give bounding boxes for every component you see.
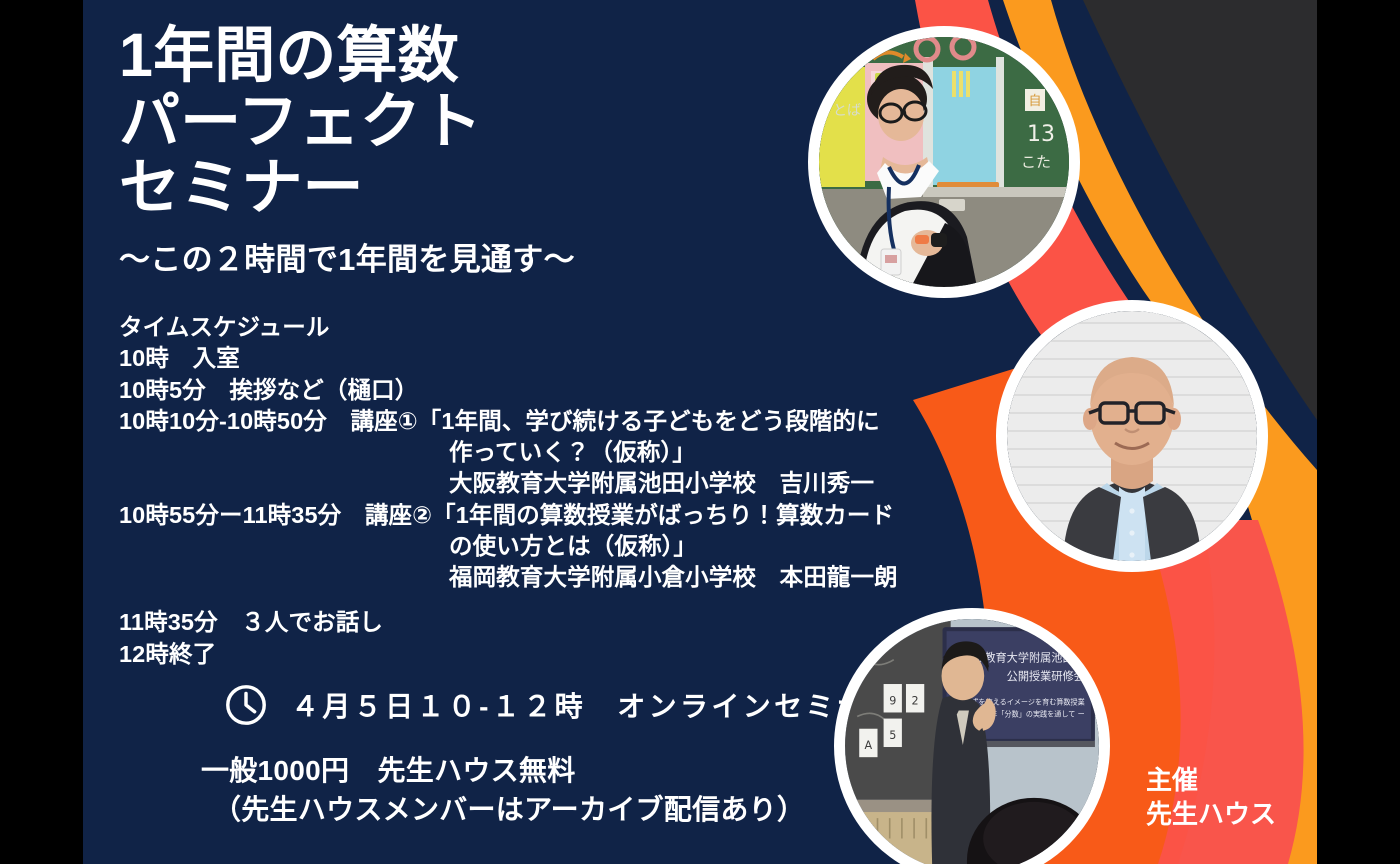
letterbox-left bbox=[0, 0, 83, 864]
schedule-row: 10時10分-10時50分 講座①「1年間、学び続ける子どもをどう段階的に bbox=[119, 406, 949, 437]
schedule-heading: タイムスケジュール bbox=[119, 312, 949, 343]
schedule-row: の使い方とは（仮称）」 bbox=[119, 531, 949, 562]
photo-lecture: 92 5A 大阪教育大学附属池田小 公開授業研修会 式、形式を変えるイメージを育… bbox=[834, 608, 1110, 864]
price-line-1: 一般1000円 先生ハウス無料 bbox=[201, 752, 805, 791]
svg-text:9: 9 bbox=[889, 694, 896, 707]
schedule-row: 10時 入室 bbox=[119, 343, 949, 374]
photo-portrait bbox=[996, 300, 1268, 572]
clock-icon bbox=[223, 682, 269, 728]
schedule-row: 11時35分 ３人でお話し bbox=[119, 607, 949, 638]
event-date-bar: ４月５日１０-１２時 オンラインセミナー bbox=[223, 682, 900, 728]
time-schedule: タイムスケジュール 10時 入室 10時5分 挨拶など（樋口） 10時10分-1… bbox=[119, 312, 949, 670]
event-date-text: ４月５日１０-１２時 オンラインセミナー bbox=[291, 685, 900, 725]
svg-text:自: 自 bbox=[1028, 94, 1041, 109]
headline-line-2: パーフェクト bbox=[119, 92, 759, 152]
svg-text:2: 2 bbox=[912, 694, 919, 707]
price-line-2: （先生ハウスメンバーはアーカイブ配信あり） bbox=[201, 791, 805, 830]
svg-text:公開授業研修会: 公開授業研修会 bbox=[1007, 669, 1085, 683]
headline-line-3: セミナー bbox=[119, 158, 759, 218]
page-subtitle: 〜この２時間で1年間を見通す〜 bbox=[119, 234, 575, 279]
photo-classroom-image: 自 13 こた とば bbox=[819, 37, 1069, 287]
svg-text:A: A bbox=[865, 739, 873, 752]
poster-stage: 1年間の算数 パーフェクト セミナー 〜この２時間で1年間を見通す〜 タイムスケ… bbox=[0, 0, 1400, 864]
headline-line-1: 1年間の算数 bbox=[119, 26, 759, 86]
schedule-row: 12時終了 bbox=[119, 639, 949, 670]
photo-lecture-image: 92 5A 大阪教育大学附属池田小 公開授業研修会 式、形式を変えるイメージを育… bbox=[845, 619, 1099, 864]
schedule-row: 10時55分ー11時35分 講座②「1年間の算数授業がばっちり！算数カード bbox=[119, 500, 949, 531]
organizer-label: 主催 bbox=[1146, 763, 1276, 797]
letterbox-right bbox=[1317, 0, 1400, 864]
schedule-spacer bbox=[119, 593, 949, 607]
photo-classroom: 自 13 こた とば bbox=[808, 26, 1080, 298]
schedule-row-speaker: 福岡教育大学附属小倉小学校 本田龍一朗 bbox=[119, 562, 949, 593]
poster-canvas: 1年間の算数 パーフェクト セミナー 〜この２時間で1年間を見通す〜 タイムスケ… bbox=[83, 0, 1317, 864]
svg-text:とば: とば bbox=[833, 103, 861, 119]
organizer-block: 主催 先生ハウス bbox=[1146, 763, 1276, 832]
svg-text:5: 5 bbox=[889, 729, 896, 742]
photo-portrait-image bbox=[1007, 311, 1257, 561]
svg-text:13: 13 bbox=[1027, 122, 1055, 147]
svg-text:こた: こた bbox=[1021, 153, 1051, 171]
price-info: 一般1000円 先生ハウス無料 （先生ハウスメンバーはアーカイブ配信あり） bbox=[201, 752, 805, 829]
page-title: 1年間の算数 パーフェクト セミナー bbox=[119, 26, 759, 223]
organizer-name: 先生ハウス bbox=[1146, 797, 1276, 831]
schedule-row: 作っていく？（仮称）」 bbox=[119, 437, 949, 468]
schedule-row-speaker: 大阪教育大学附属池田小学校 吉川秀一 bbox=[119, 468, 949, 499]
schedule-row: 10時5分 挨拶など（樋口） bbox=[119, 375, 949, 406]
